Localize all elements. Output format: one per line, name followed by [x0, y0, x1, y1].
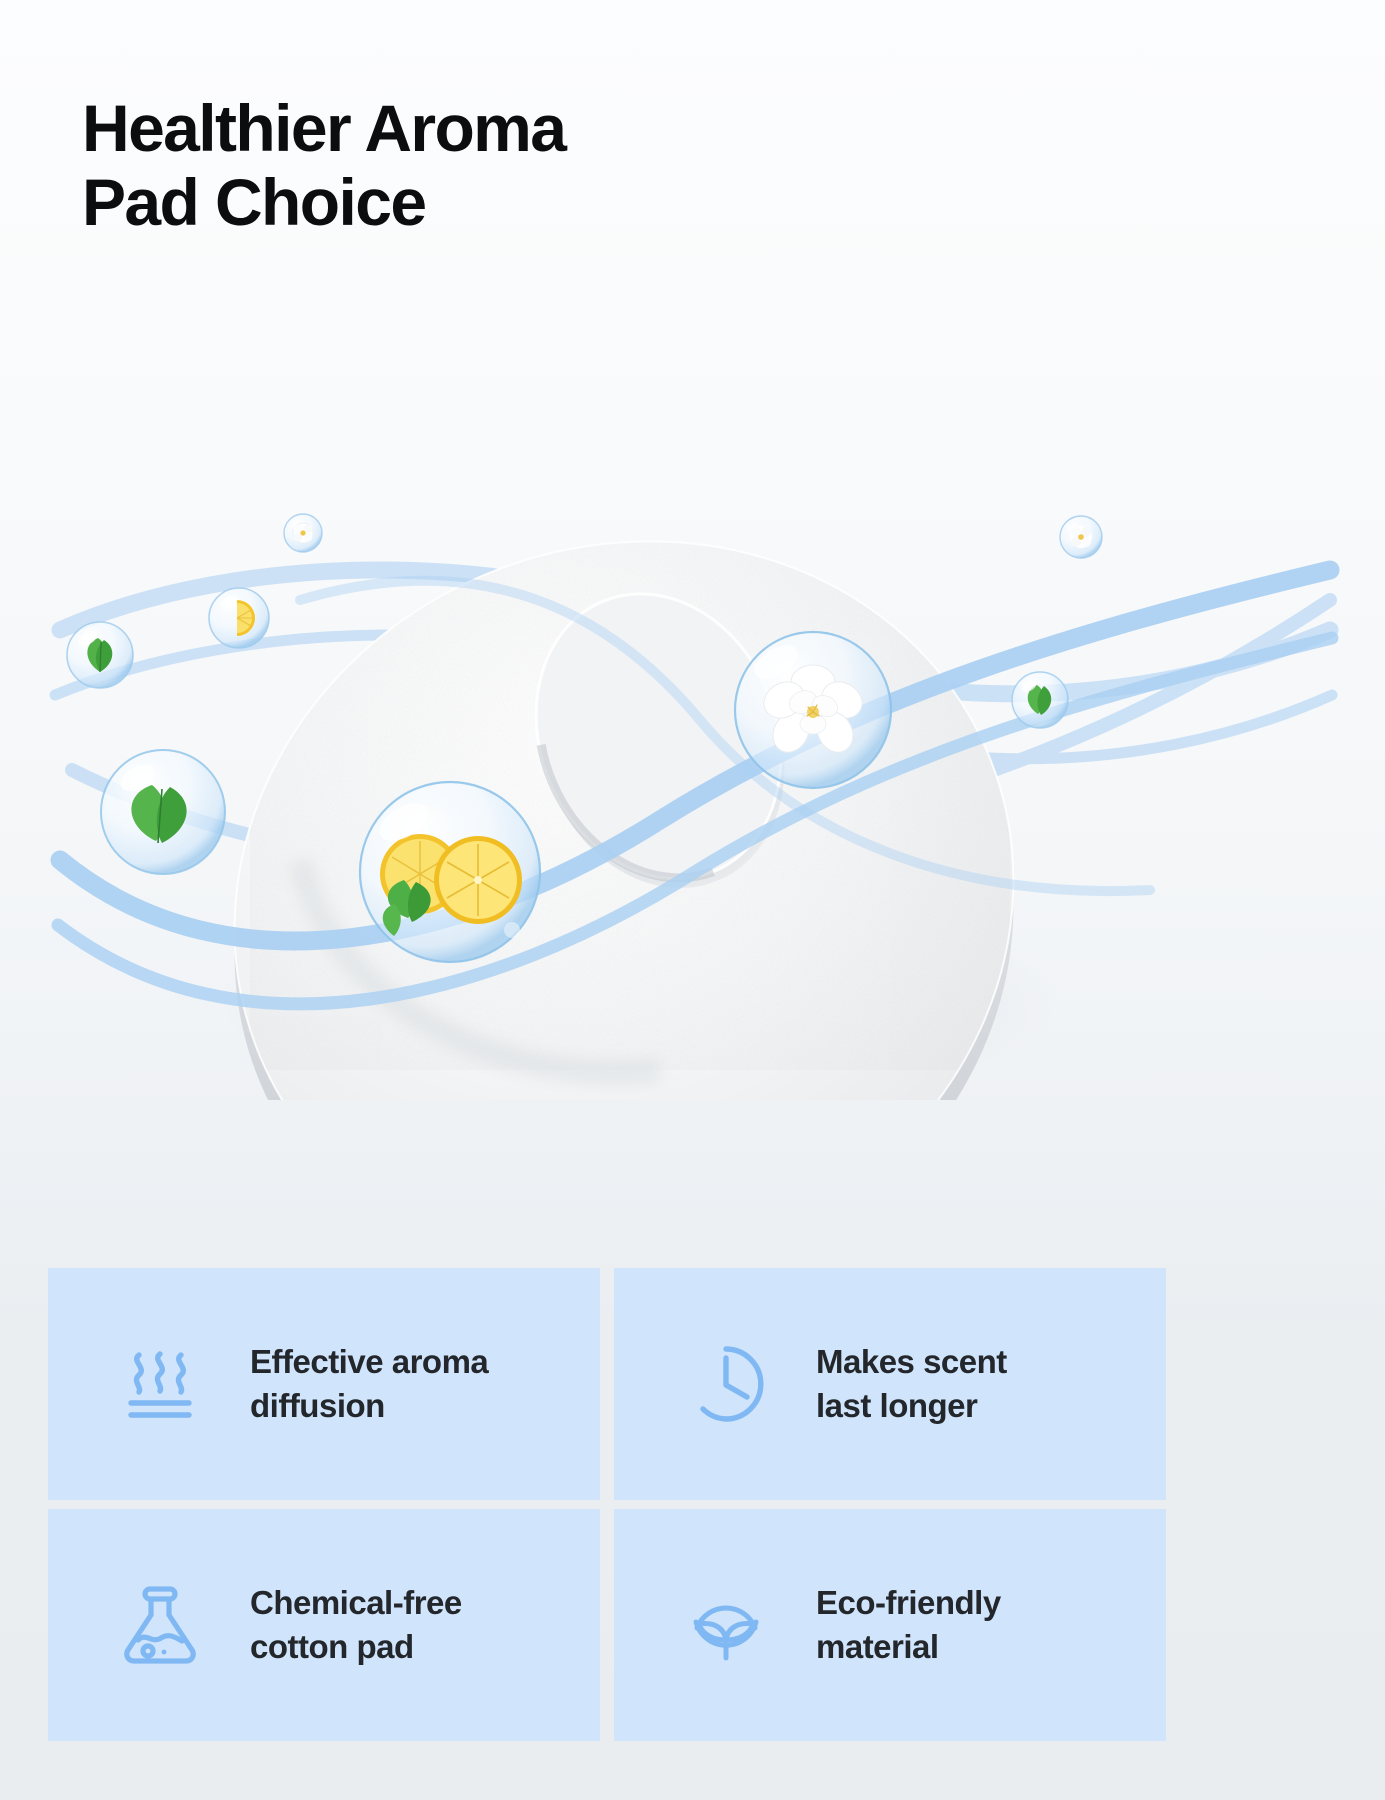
bubble-jasmine-small-left [284, 514, 322, 552]
page-title: Healthier Aroma Pad Choice [82, 92, 842, 240]
flask-icon [110, 1575, 210, 1675]
feature-card-lasts-longer[interactable]: Makes scent last longer [614, 1268, 1166, 1500]
feature-card-chemical-free[interactable]: Chemical-free cotton pad [48, 1509, 600, 1741]
feature-label: Chemical-free cotton pad [250, 1581, 462, 1668]
feature-grid: Effective aroma diffusion Makes scent la… [48, 1268, 1338, 1741]
bubble-mint-large [101, 750, 225, 874]
bubble-jasmine-large [735, 632, 891, 788]
bubble-mint-small-left [67, 622, 133, 688]
feature-card-aroma-diffusion[interactable]: Effective aroma diffusion [48, 1268, 600, 1500]
feature-label: Makes scent last longer [816, 1340, 1007, 1427]
bubble-mint-small-right [1012, 672, 1068, 728]
bubble-lemon-mint-large [360, 782, 540, 962]
feature-label: Effective aroma diffusion [250, 1340, 488, 1427]
feature-label: Eco-friendly material [816, 1581, 1001, 1668]
clock-icon [676, 1334, 776, 1434]
bubble-lemon-wedge [209, 588, 269, 648]
hero-product-image [0, 300, 1385, 1100]
feature-card-eco-friendly[interactable]: Eco-friendly material [614, 1509, 1166, 1741]
aroma-diffusion-icon [110, 1334, 210, 1434]
eco-leaf-icon [676, 1575, 776, 1675]
bubble-jasmine-small-right [1060, 516, 1102, 558]
